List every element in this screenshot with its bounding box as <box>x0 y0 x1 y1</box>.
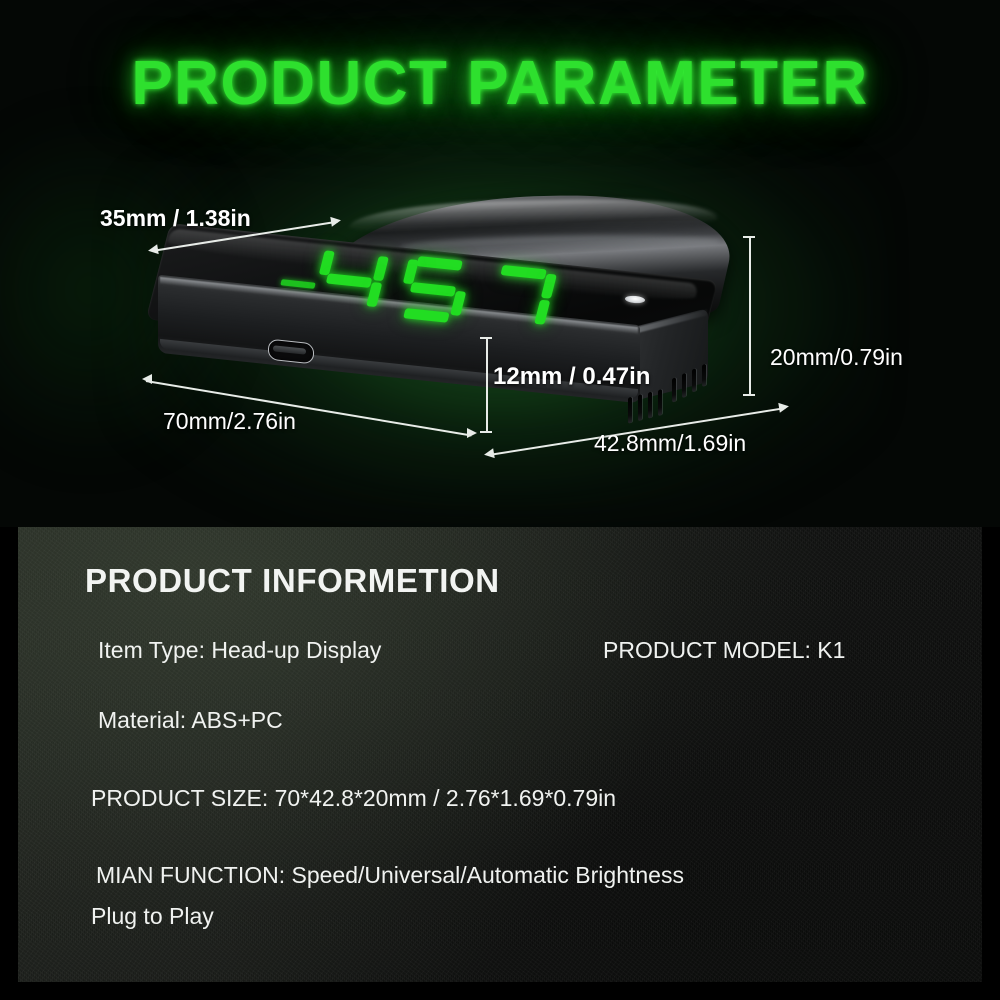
spec-main-function: MIAN FUNCTION: Speed/Universal/Automatic… <box>96 862 684 889</box>
dimension-tick <box>743 236 755 238</box>
arrow-icon <box>330 215 341 226</box>
spec-main-function-line-2: Plug to Play <box>91 903 214 930</box>
dimension-tick <box>743 394 755 396</box>
vent-slot <box>648 392 652 419</box>
display-digit <box>309 246 391 315</box>
vent-slot <box>638 394 642 421</box>
vent-slot <box>672 377 676 402</box>
vent-slot <box>702 364 706 387</box>
vent-slot <box>628 397 632 424</box>
spec-material: Material: ABS+PC <box>98 707 283 734</box>
vent-slot <box>682 373 686 398</box>
spec-item-type: Item Type: Head-up Display <box>98 637 381 664</box>
hero-section: PRODUCT PARAMETER <box>0 0 1000 527</box>
arrow-icon <box>483 448 494 459</box>
spec-product-model: PRODUCT MODEL: K1 <box>603 637 845 664</box>
vent-slot <box>692 368 696 392</box>
display-digit <box>393 255 475 324</box>
product-illustration: 35mm / 1.38in 20mm/0.79in 12mm / 0.47in … <box>0 0 1000 527</box>
dimension-label-body-height: 12mm / 0.47in <box>493 363 650 391</box>
spec-product-size: PRODUCT SIZE: 70*42.8*20mm / 2.76*1.69*0… <box>91 785 616 812</box>
dimension-label-height: 20mm/0.79in <box>770 344 903 371</box>
dimension-label-width: 70mm/2.76in <box>163 408 296 435</box>
display-digit <box>477 264 559 333</box>
product-parameter-page: PRODUCT PARAMETER <box>0 0 1000 1000</box>
dimension-tick <box>480 431 492 433</box>
arrow-icon <box>142 374 152 384</box>
dimension-line-body-height <box>486 337 488 433</box>
vent-slot <box>658 389 662 416</box>
arrow-icon <box>467 428 477 438</box>
dimension-label-depth: 35mm / 1.38in <box>100 205 251 232</box>
section-heading: PRODUCT INFORMETION <box>85 562 500 600</box>
dimension-tick <box>480 337 492 339</box>
dimension-line-height <box>749 236 751 396</box>
dimension-label-body-depth: 42.8mm/1.69in <box>594 430 746 457</box>
arrow-icon <box>778 401 789 412</box>
arrow-icon <box>147 244 158 255</box>
product-information-panel: PRODUCT INFORMETION Item Type: Head-up D… <box>18 527 982 982</box>
